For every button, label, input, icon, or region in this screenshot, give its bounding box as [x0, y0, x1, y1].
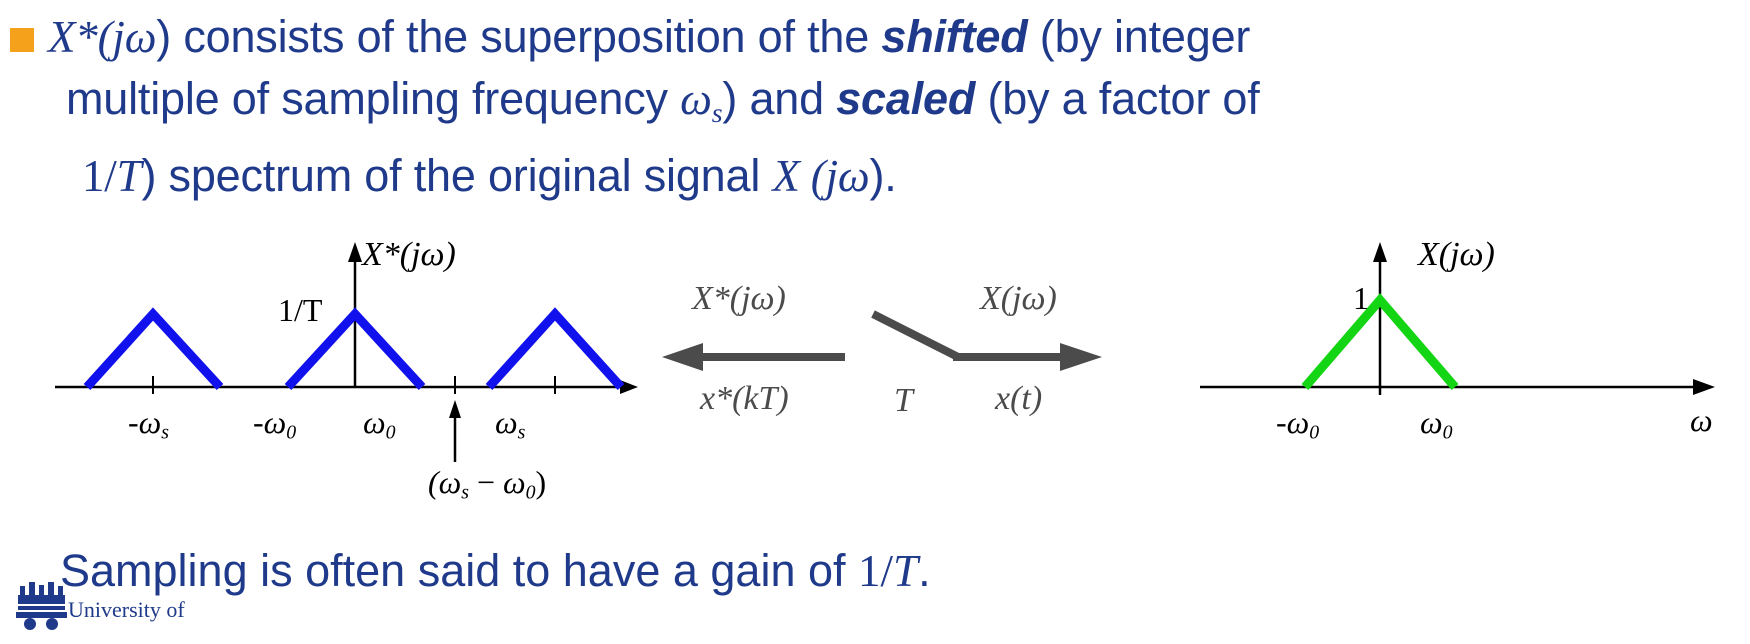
annot-close: ) — [536, 464, 547, 500]
logo-caption: University of — [68, 598, 185, 622]
right-y-axis-arrowhead — [1373, 242, 1387, 262]
left-annotation-pointer-arrowhead — [449, 400, 461, 418]
omega-icon-2: ω — [838, 151, 870, 201]
bullet-line3-d: ). — [869, 150, 896, 201]
sampler-switch-blade — [873, 314, 958, 357]
right-tick-label-w0: ω0 — [1420, 404, 1453, 445]
left-spectrum-plot — [20, 232, 660, 422]
university-logo: University of — [14, 578, 204, 644]
left-plot-peak-label: 1/T — [278, 292, 322, 329]
right-w0-glyph: ω — [1420, 404, 1443, 440]
annot-sub1: s — [461, 482, 469, 504]
sampler-output-spectrum-label: X*(jω) — [692, 280, 786, 318]
w0-glyph: ω — [363, 404, 386, 440]
right-neg-w0-glyph: -ω — [1276, 404, 1309, 440]
neg-ws-sub: s — [161, 422, 169, 444]
left-tick-label-neg-ws: -ωs — [128, 404, 169, 445]
annot-w0: ω — [503, 464, 526, 500]
omega-s-icon: ω — [680, 74, 712, 124]
left-plot-axis-label: X*(jω) — [362, 236, 456, 274]
sampler-period-label: T — [894, 382, 913, 420]
left-tick-label-w0: ω0 — [363, 404, 396, 445]
bullet-line2-a: multiple of sampling frequency — [66, 73, 680, 124]
neg-ws-glyph: -ω — [128, 404, 161, 440]
annot-sub2: 0 — [526, 482, 536, 504]
right-w0-sub: 0 — [1443, 422, 1453, 444]
right-x-axis-label: ω — [1690, 402, 1713, 439]
neg-w0-glyph: -ω — [253, 404, 286, 440]
bullet-line3-b: ) spectrum of the original signal — [141, 150, 772, 201]
castle-crest-icon — [14, 578, 70, 634]
right-tick-label-neg-w0: -ω0 — [1276, 404, 1319, 445]
bullet-line2-b: ) and — [722, 73, 836, 124]
slide-root: X*(jω) consists of the superposition of … — [0, 0, 1750, 644]
bullet-text: X*(jω) consists of the superposition of … — [48, 6, 1738, 207]
bullet-line3-c: (j — [800, 151, 838, 201]
figure-area: X*(jω) 1/T -ωs -ω0 ω0 ωs (ωs − ω0) X*(jω… — [0, 232, 1750, 532]
bullet-line2-bold: scaled — [836, 73, 975, 124]
left-tick-label-ws: ωs — [495, 404, 525, 445]
right-plot-peak-label: 1 — [1353, 280, 1369, 317]
bullet-line3-T: T — [117, 151, 142, 201]
bullet-line2-c: (by a factor of — [975, 73, 1259, 124]
annot-minus: − — [469, 464, 503, 500]
bullet-line1-bold: shifted — [881, 11, 1027, 62]
bullet-line3: 1/T) spectrum of the original signal X (… — [48, 145, 1738, 207]
neg-w0-sub: 0 — [286, 422, 296, 444]
input-arrow-head — [1060, 343, 1102, 371]
left-plot-annotation: (ωs − ω0) — [428, 464, 546, 505]
right-plot-axis-label: X(jω) — [1418, 236, 1495, 274]
bottom-statement-c: . — [918, 545, 931, 596]
right-neg-w0-sub: 0 — [1309, 422, 1319, 444]
bullet-line3-a: 1/ — [82, 151, 117, 201]
sampler-input-spectrum-label: X(jω) — [980, 280, 1057, 318]
omega-icon: ω — [125, 12, 157, 62]
sampler-input-signal-label: x(t) — [995, 380, 1042, 418]
bullet-line1-b: ) consists of the superposition of the — [156, 11, 881, 62]
annot-open: (ω — [428, 464, 461, 500]
ws-glyph: ω — [495, 404, 518, 440]
left-y-axis-arrowhead — [348, 242, 362, 262]
bullet-line2: multiple of sampling frequency ωs) and s… — [48, 68, 1738, 145]
bullet-marker-icon — [10, 28, 34, 52]
bottom-statement-gain: 1/T — [858, 546, 918, 596]
bullet-line1-math-a: X*(j — [48, 12, 125, 62]
bullet-line1-c: (by integer — [1027, 11, 1250, 62]
right-x-axis-arrowhead — [1693, 379, 1715, 395]
left-x-axis-arrowhead — [620, 380, 638, 394]
bullet-line2-sub: s — [712, 98, 723, 129]
bullet-line3-X: X — [772, 151, 799, 201]
ws-sub: s — [518, 422, 526, 444]
output-arrow-head — [662, 343, 703, 371]
bottom-statement-T: T — [893, 546, 918, 596]
sampler-output-signal-label: x*(kT) — [700, 380, 789, 418]
w0-sub: 0 — [386, 422, 396, 444]
left-tick-label-neg-w0: -ω0 — [253, 404, 296, 445]
